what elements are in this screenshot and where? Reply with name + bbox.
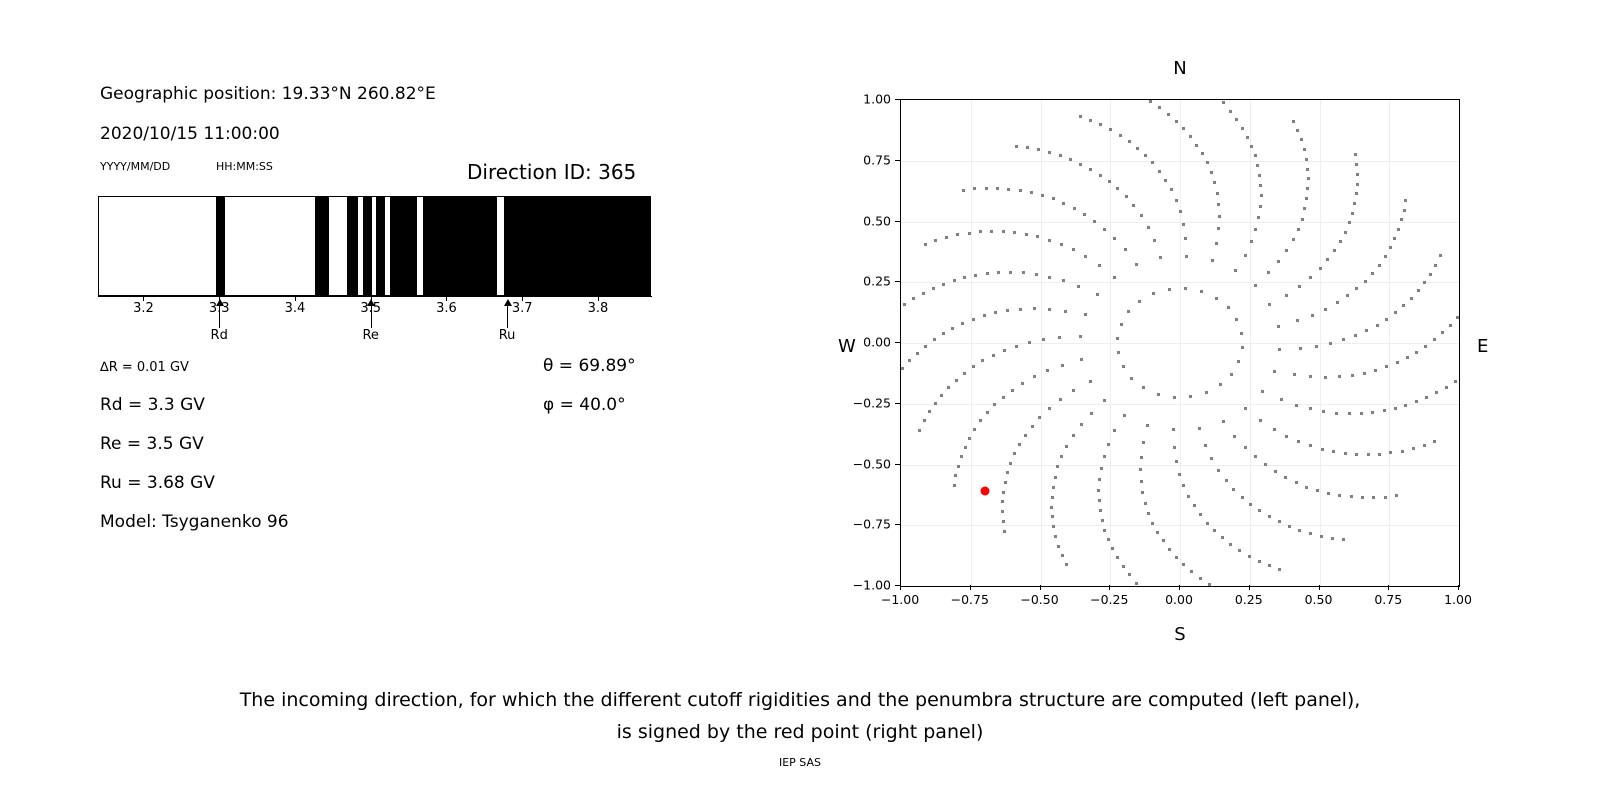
direction-point xyxy=(1423,444,1426,447)
direction-point xyxy=(1307,177,1310,180)
penumbra-forbidden-band xyxy=(216,197,225,295)
param-ru: Ru = 3.68 GV xyxy=(100,473,215,493)
direction-point xyxy=(940,394,943,397)
direction-point xyxy=(924,243,927,246)
direction-point xyxy=(1425,396,1428,399)
direction-point xyxy=(1065,563,1068,566)
direction-point xyxy=(1404,404,1407,407)
direction-point xyxy=(1322,410,1325,413)
direction-point xyxy=(1215,242,1218,245)
direction-point xyxy=(1342,338,1345,341)
direction-point xyxy=(1107,538,1110,541)
direction-point xyxy=(1210,171,1213,174)
direction-point xyxy=(1135,263,1138,266)
direction-point xyxy=(1216,192,1219,195)
direction-point xyxy=(1089,168,1092,171)
direction-point xyxy=(1295,404,1298,407)
direction-point xyxy=(1113,429,1116,432)
direction-point xyxy=(1225,479,1228,482)
direction-point xyxy=(1079,115,1082,118)
direction-point xyxy=(1002,491,1005,494)
direction-point xyxy=(1185,255,1188,258)
direction-point xyxy=(1080,423,1083,426)
direction-point xyxy=(1128,573,1131,576)
grid-line-horizontal xyxy=(901,222,1459,223)
direction-point xyxy=(1240,332,1243,335)
penumbra-forbidden-band xyxy=(423,197,496,295)
direction-point xyxy=(1351,374,1354,377)
direction-point xyxy=(1309,444,1312,447)
direction-point xyxy=(1350,495,1353,498)
y-axis-tick-label: 1.00 xyxy=(838,92,891,107)
direction-point xyxy=(1048,151,1051,154)
direction-point xyxy=(1385,318,1388,321)
direction-point xyxy=(1051,496,1054,499)
y-axis-tick xyxy=(895,99,900,100)
direction-point xyxy=(1278,348,1281,351)
direction-point xyxy=(1103,529,1106,532)
direction-point xyxy=(1401,450,1404,453)
penumbra-bar xyxy=(98,196,651,296)
direction-point xyxy=(1001,510,1004,513)
direction-point xyxy=(1061,364,1064,367)
direction-point xyxy=(1015,145,1018,148)
direction-point xyxy=(942,283,945,286)
direction-point xyxy=(1311,314,1314,317)
penumbra-arrow-head xyxy=(367,299,375,306)
direction-point xyxy=(1140,214,1143,217)
direction-point xyxy=(1229,543,1232,546)
x-axis-tick-label: −0.75 xyxy=(951,592,989,607)
direction-point xyxy=(1363,372,1366,375)
direction-point xyxy=(1315,345,1318,348)
direction-point xyxy=(1210,457,1213,460)
direction-point xyxy=(1037,148,1040,151)
direction-point xyxy=(1096,293,1099,296)
direction-point xyxy=(1259,184,1262,187)
direction-point xyxy=(953,484,956,487)
direction-point xyxy=(1217,203,1220,206)
direction-point xyxy=(1018,443,1021,446)
direction-point xyxy=(1230,373,1233,376)
direction-point xyxy=(1273,370,1276,373)
direction-point xyxy=(1285,294,1288,297)
direction-point xyxy=(1048,407,1051,410)
direction-point xyxy=(1168,548,1171,551)
direction-point xyxy=(1170,188,1173,191)
direction-point xyxy=(1179,210,1182,213)
direction-point xyxy=(1175,556,1178,559)
direction-point xyxy=(1277,325,1280,328)
direction-point xyxy=(1320,535,1323,538)
grid-line-horizontal xyxy=(901,465,1459,466)
penumbra-arrow-line xyxy=(371,304,372,328)
direction-point xyxy=(1199,513,1202,516)
direction-point xyxy=(1433,440,1436,443)
direction-point xyxy=(1355,287,1358,290)
direction-point xyxy=(1116,337,1119,340)
direction-point xyxy=(1113,276,1116,279)
direction-point xyxy=(1306,187,1309,190)
direction-point xyxy=(974,274,977,277)
date-format-hint: YYYY/MM/DD xyxy=(100,160,170,173)
direction-point xyxy=(1098,264,1101,267)
direction-point xyxy=(1101,519,1104,522)
direction-point xyxy=(1006,471,1009,474)
direction-point xyxy=(1285,435,1288,438)
direction-point xyxy=(1089,380,1092,383)
direction-point xyxy=(1146,424,1149,427)
grid-line-horizontal xyxy=(901,343,1459,344)
direction-point xyxy=(1244,446,1247,449)
direction-point xyxy=(1061,554,1064,557)
direction-point xyxy=(1089,119,1092,122)
direction-point xyxy=(1103,455,1106,458)
direction-point xyxy=(1144,502,1147,505)
direction-point xyxy=(922,292,925,295)
direction-point xyxy=(1103,399,1106,402)
direction-point xyxy=(1050,506,1053,509)
penumbra-arrow-head xyxy=(504,299,512,306)
direction-point xyxy=(1107,443,1110,446)
y-axis-tick xyxy=(895,160,900,161)
direction-point xyxy=(1371,411,1374,414)
caption-line-2: is signed by the red point (right panel) xyxy=(0,716,1600,748)
direction-point xyxy=(1077,285,1080,288)
y-axis-tick-label: −0.25 xyxy=(838,395,891,410)
compass-label-south: S xyxy=(1174,624,1185,645)
direction-point xyxy=(1011,389,1014,392)
direction-point xyxy=(1235,318,1238,321)
direction-point xyxy=(1059,398,1062,401)
direction-point xyxy=(1258,174,1261,177)
direction-point xyxy=(1257,216,1260,219)
direction-point xyxy=(1130,377,1133,380)
direction-point xyxy=(1235,118,1238,121)
y-axis-tick-label: −1.00 xyxy=(838,578,891,593)
direction-point xyxy=(1412,447,1415,450)
direction-point xyxy=(1402,304,1405,307)
direction-point xyxy=(1268,515,1271,518)
direction-point xyxy=(1041,194,1044,197)
compass-label-west: W xyxy=(838,336,856,357)
direction-point xyxy=(1099,174,1102,177)
direction-point xyxy=(973,187,976,190)
direction-point xyxy=(1327,492,1330,495)
direction-point xyxy=(1389,451,1392,454)
direction-point xyxy=(1153,239,1156,242)
direction-point xyxy=(1261,390,1264,393)
direction-point xyxy=(1434,264,1437,267)
direction-point xyxy=(1254,284,1257,287)
direction-point xyxy=(1158,170,1161,173)
direction-point xyxy=(1125,195,1128,198)
grid-line-horizontal xyxy=(901,525,1459,526)
geographic-position-text: Geographic position: 19.33°N 260.82°E xyxy=(100,84,436,104)
direction-point xyxy=(1378,453,1381,456)
penumbra-forbidden-band xyxy=(390,197,417,295)
direction-point xyxy=(1093,220,1096,223)
direction-point xyxy=(1367,453,1370,456)
direction-point xyxy=(1384,496,1387,499)
direction-point xyxy=(1213,529,1216,532)
direction-point xyxy=(933,338,936,341)
direction-point xyxy=(1403,209,1406,212)
penumbra-arrow-line xyxy=(219,304,220,328)
direction-point xyxy=(1237,360,1240,363)
direction-point xyxy=(951,327,954,330)
direction-point xyxy=(1111,547,1114,550)
direction-point xyxy=(1123,414,1126,417)
direction-point xyxy=(1157,393,1160,396)
direction-point xyxy=(1099,123,1102,126)
direction-point xyxy=(960,455,963,458)
direction-point xyxy=(985,187,988,190)
direction-point xyxy=(1221,536,1224,539)
direction-point xyxy=(1159,256,1162,259)
direction-point xyxy=(1136,147,1139,150)
direction-point xyxy=(1384,255,1387,258)
direction-point xyxy=(1241,127,1244,130)
direction-point xyxy=(1397,228,1400,231)
direction-point xyxy=(1142,386,1145,389)
direction-point xyxy=(1248,555,1251,558)
direction-point xyxy=(979,419,982,422)
direction-point xyxy=(1109,128,1112,131)
datetime-text: 2020/10/15 11:00:00 xyxy=(100,124,280,144)
direction-point xyxy=(1254,154,1257,157)
direction-point xyxy=(1410,297,1413,300)
direction-point xyxy=(1336,301,1339,304)
direction-point xyxy=(1303,148,1306,151)
direction-point xyxy=(997,271,1000,274)
param-delta-r-value: ∆R = 0.01 GV xyxy=(100,360,189,375)
direction-point xyxy=(1278,568,1281,571)
y-axis-tick-label: −0.75 xyxy=(838,517,891,532)
penumbra-forbidden-band xyxy=(363,197,371,295)
direction-point xyxy=(1138,300,1141,303)
direction-point xyxy=(918,429,921,432)
direction-point xyxy=(1344,231,1347,234)
direction-point xyxy=(1258,560,1261,563)
x-axis-tick xyxy=(1109,585,1110,590)
direction-point xyxy=(1217,227,1220,230)
direction-point xyxy=(1335,412,1338,415)
direction-point xyxy=(1062,279,1065,282)
direction-point xyxy=(1184,237,1187,240)
direction-point xyxy=(1222,420,1225,423)
direction-point xyxy=(1009,271,1012,274)
direction-point xyxy=(1309,276,1312,279)
direction-point xyxy=(945,236,948,239)
direction-point xyxy=(1007,188,1010,191)
direction-point xyxy=(1394,311,1397,314)
penumbra-plot-area xyxy=(98,196,651,296)
direction-point xyxy=(983,314,986,317)
direction-point xyxy=(1250,145,1253,148)
direction-point xyxy=(1122,365,1125,368)
param-delta-r: ∆R = 0.01 GV xyxy=(100,356,189,376)
direction-point xyxy=(1054,535,1057,538)
direction-point xyxy=(1124,248,1127,251)
direction-point xyxy=(1354,334,1357,337)
penumbra-forbidden-band xyxy=(315,197,329,295)
direction-point xyxy=(1353,202,1356,205)
y-axis-tick xyxy=(895,403,900,404)
direction-point xyxy=(1321,448,1324,451)
direction-point xyxy=(1338,494,1341,497)
direction-point xyxy=(923,419,926,422)
penumbra-forbidden-band xyxy=(347,197,358,295)
direction-point xyxy=(1060,243,1063,246)
y-axis-tick-label: 0.75 xyxy=(838,152,891,167)
selected-direction-point[interactable] xyxy=(980,487,989,496)
direction-point xyxy=(1147,226,1150,229)
direction-point xyxy=(1435,391,1438,394)
direction-point xyxy=(1059,154,1062,157)
direction-point xyxy=(1371,272,1374,275)
direction-point xyxy=(1406,356,1409,359)
penumbra-x-tick-label: 3.4 xyxy=(285,301,306,316)
direction-point xyxy=(1009,462,1012,465)
x-axis-tick-label: −0.50 xyxy=(1020,592,1058,607)
direction-point xyxy=(1175,120,1178,123)
direction-point xyxy=(1097,489,1100,492)
direction-point xyxy=(1021,382,1024,385)
direction-point xyxy=(1254,228,1257,231)
direction-point xyxy=(1204,444,1207,447)
direction-point xyxy=(1028,341,1031,344)
direction-point xyxy=(1423,281,1426,284)
penumbra-arrow-label-re: Re xyxy=(362,328,378,343)
direction-point xyxy=(1175,460,1178,463)
direction-point xyxy=(1139,468,1142,471)
direction-point xyxy=(1429,273,1432,276)
direction-point xyxy=(1298,529,1301,532)
footer-credit: IEP SAS xyxy=(0,756,1600,769)
direction-point xyxy=(1058,336,1061,339)
direction-point xyxy=(1206,161,1209,164)
penumbra-x-tick-label: 3.7 xyxy=(512,301,533,316)
param-model: Model: Tsyganenko 96 xyxy=(100,512,289,532)
direction-point xyxy=(1232,488,1235,491)
direction-point xyxy=(1140,480,1143,483)
direction-point xyxy=(1113,237,1116,240)
penumbra-arrow-label-ru: Ru xyxy=(499,328,516,343)
direction-point xyxy=(963,276,966,279)
param-re: Re = 3.5 GV xyxy=(100,434,204,454)
direction-point xyxy=(1404,199,1407,202)
direction-point xyxy=(1378,264,1381,267)
direction-point xyxy=(1051,515,1054,518)
direction-point xyxy=(1052,525,1055,528)
direction-point xyxy=(1098,499,1101,502)
param-rd: Rd = 3.3 GV xyxy=(100,395,205,415)
direction-point xyxy=(1305,197,1308,200)
direction-point xyxy=(1233,435,1236,438)
direction-point xyxy=(1054,476,1057,479)
direction-point xyxy=(1062,202,1065,205)
direction-point xyxy=(1108,180,1111,183)
direction-point xyxy=(1306,168,1309,171)
direction-point xyxy=(1241,496,1244,499)
direction-point xyxy=(1338,375,1341,378)
direction-point xyxy=(1355,453,1358,456)
direction-point xyxy=(1189,135,1192,138)
y-axis-tick-label: 0.50 xyxy=(838,213,891,228)
direction-point xyxy=(1227,306,1230,309)
direction-point xyxy=(1274,470,1277,473)
direction-point xyxy=(1244,407,1247,410)
compass-label-north: N xyxy=(1173,58,1186,79)
penumbra-forbidden-band xyxy=(504,197,651,295)
y-axis-tick xyxy=(895,221,900,222)
direction-point xyxy=(1198,427,1201,430)
direction-point xyxy=(1319,267,1322,270)
direction-point xyxy=(1038,416,1041,419)
direction-point xyxy=(908,359,911,362)
direction-point xyxy=(1193,504,1196,507)
direction-point xyxy=(1292,120,1295,123)
direction-point xyxy=(1456,316,1459,319)
direction-point xyxy=(1141,491,1144,494)
direction-point xyxy=(1117,351,1120,354)
direction-point xyxy=(1057,545,1060,548)
direction-point xyxy=(1217,469,1220,472)
direction-point xyxy=(1079,163,1082,166)
direction-point xyxy=(1019,189,1022,192)
penumbra-x-tick-label: 3.2 xyxy=(133,301,154,316)
direction-point xyxy=(1030,191,1033,194)
direction-point xyxy=(1069,158,1072,161)
direction-point xyxy=(1365,329,1368,332)
direction-point xyxy=(1332,450,1335,453)
direction-point xyxy=(1206,522,1209,525)
direction-point xyxy=(1182,127,1185,130)
figure-root: Geographic position: 19.33°N 260.82°E 20… xyxy=(0,0,1600,800)
direction-point xyxy=(1400,218,1403,221)
direction-point xyxy=(1132,204,1135,207)
direction-point xyxy=(1249,503,1252,506)
y-axis-tick xyxy=(895,524,900,525)
x-axis-tick xyxy=(1319,585,1320,590)
direction-point xyxy=(1031,425,1034,428)
direction-point xyxy=(1241,346,1244,349)
direction-point xyxy=(1147,512,1150,515)
direction-point xyxy=(1149,100,1152,103)
direction-point xyxy=(1184,287,1187,290)
direction-point xyxy=(924,345,927,348)
direction-point xyxy=(1250,240,1253,243)
direction-point xyxy=(1296,319,1299,322)
direction-point xyxy=(1259,419,1262,422)
direction-point xyxy=(1156,531,1159,534)
penumbra-arrow-label-rd: Rd xyxy=(211,328,228,343)
time-format-hint: HH:MM:SS xyxy=(216,160,273,173)
direction-point xyxy=(903,303,906,306)
direction-point xyxy=(1173,446,1176,449)
direction-point xyxy=(1072,389,1075,392)
direction-point xyxy=(1013,452,1016,455)
direction-point xyxy=(934,239,937,242)
direction-point xyxy=(1033,375,1036,378)
direction-point xyxy=(1103,228,1106,231)
direction-point xyxy=(916,352,919,355)
direction-point xyxy=(1182,563,1185,566)
param-theta: θ = 69.89° xyxy=(543,356,636,376)
direction-point xyxy=(1389,246,1392,249)
direction-point xyxy=(1002,230,1005,233)
